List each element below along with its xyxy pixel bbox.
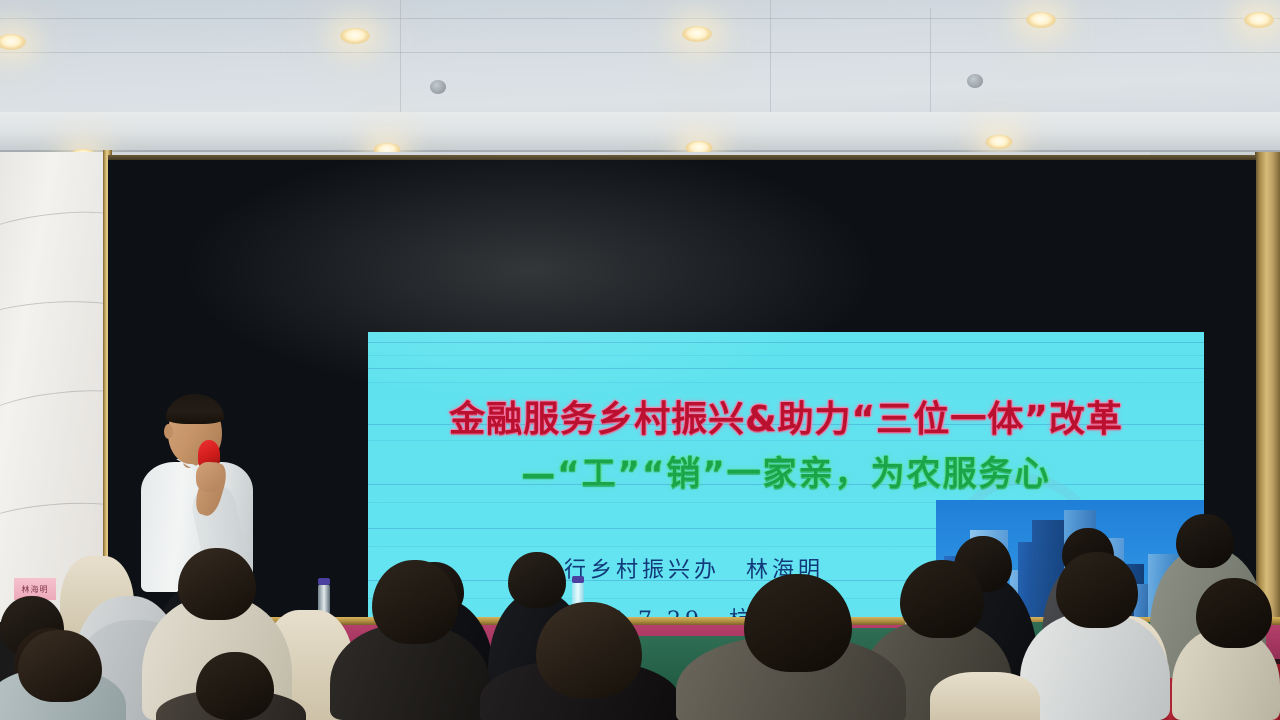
ceiling-soffit [0, 112, 1280, 154]
ceiling-downlight [986, 135, 1013, 149]
speaker-ear [164, 424, 173, 439]
audience-person-head [372, 560, 458, 644]
audience-person-head [744, 574, 852, 672]
marble-wall [0, 152, 108, 622]
audience-person-head [1056, 552, 1138, 628]
conference-room-photo: 金融服务乡村振兴&助力“三位一体”改革 —“工”“销”一家亲，为农服务心 省工行… [0, 0, 1280, 720]
audience-person-head [18, 630, 102, 702]
ceiling-downlight [340, 28, 370, 44]
audience-chair [930, 672, 1040, 720]
speaker-hand [196, 462, 222, 492]
name-card-text: 林海明 [22, 584, 49, 595]
audience-person-head [900, 560, 984, 638]
audience-person-head [196, 652, 274, 720]
bottle-cap [318, 578, 330, 585]
audience-person-head [536, 602, 642, 698]
ceiling-downlight [1026, 12, 1056, 28]
audience-person-head [508, 552, 566, 608]
audience-person-head [178, 548, 256, 620]
ceiling-sensor-icon [430, 80, 446, 94]
slide-subtitle: —“工”“销”一家亲，为农服务心 [368, 446, 1204, 495]
ceiling-downlight [682, 26, 712, 42]
ceiling-sensor-icon [967, 74, 983, 88]
slide-title: 金融服务乡村振兴&助力“三位一体”改革 [368, 390, 1204, 442]
gold-trim-right [1255, 152, 1280, 622]
audience-person-head [1176, 514, 1234, 568]
audience-person-head [1196, 578, 1272, 648]
ceiling-downlight [1244, 12, 1274, 28]
bottle-cap [572, 576, 584, 583]
